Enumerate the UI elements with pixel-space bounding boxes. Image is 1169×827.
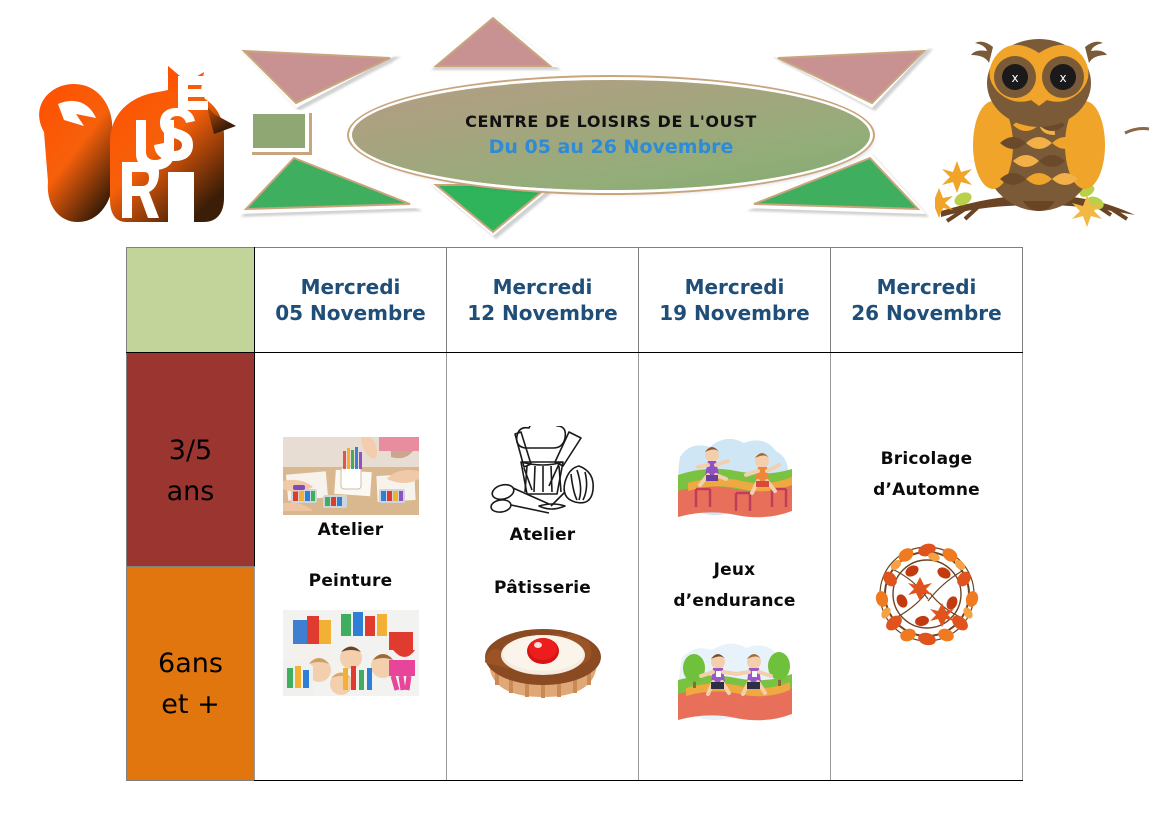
- header-day-3-date: 19 Novembre: [639, 300, 830, 326]
- header-day-4-name: Mercredi: [831, 274, 1022, 300]
- illustration-children-relay-race: [674, 638, 796, 724]
- activity-4-label: Bricolage d’Automne: [873, 446, 980, 503]
- activity-4-line1: Bricolage: [881, 449, 973, 469]
- activity-2-line1: Atelier: [510, 525, 576, 545]
- clipart-cherry-tart: [473, 615, 613, 707]
- activity-1-label: Atelier Peinture: [309, 517, 393, 594]
- activity-4-line2: d’Automne: [873, 477, 980, 503]
- header-day-1-name: Mercredi: [255, 274, 446, 300]
- photo-children-painted-hands: [283, 610, 419, 696]
- banner-decoration: CENTRE DE LOISIRS DE L'OUST Du 05 au 26 …: [232, 14, 932, 236]
- age-label-6-plus: 6ans et +: [127, 567, 255, 781]
- header-day-2: Mercredi 12 Novembre: [447, 248, 639, 353]
- age-label-3-5-line1: 3/5: [127, 431, 254, 472]
- activity-3-line2: d’endurance: [673, 588, 795, 614]
- activity-2-label: Atelier Pâtisserie: [494, 522, 591, 601]
- banner-small-rectangle: [249, 110, 309, 152]
- owl-autumn-illustration: x x: [935, 25, 1150, 237]
- activity-cell-4: Bricolage d’Automne: [831, 353, 1023, 781]
- age-label-3-5-line2: ans: [127, 472, 254, 513]
- programme-table: Mercredi 05 Novembre Mercredi 12 Novembr…: [126, 247, 1023, 781]
- activity-3-label: Jeux d’endurance: [673, 557, 795, 614]
- header-corner-cell: [127, 248, 255, 353]
- svg-text:x: x: [1059, 71, 1066, 85]
- banner-title: CENTRE DE LOISIRS DE L'OUST: [465, 112, 757, 131]
- illustration-children-hurdles-race: [674, 435, 796, 521]
- svg-text:x: x: [1011, 71, 1018, 85]
- illustration-autumn-leaf-wreath: [868, 535, 986, 653]
- header-banner: CENTRE DE LOISIRS DE L'OUST Du 05 au 26 …: [0, 0, 1169, 245]
- lineart-baking-utensils-cupcake: [481, 426, 605, 514]
- header-day-2-date: 12 Novembre: [447, 300, 638, 326]
- header-day-2-name: Mercredi: [447, 274, 638, 300]
- banner-text-block: CENTRE DE LOISIRS DE L'OUST Du 05 au 26 …: [352, 80, 870, 190]
- age-label-6-plus-line2: et +: [127, 685, 254, 726]
- table-row-age-3-5: 3/5 ans: [127, 353, 1023, 567]
- activity-cell-2: Atelier Pâtisserie: [447, 353, 639, 781]
- activity-cell-3: Jeux d’endurance: [639, 353, 831, 781]
- header-day-3-name: Mercredi: [639, 274, 830, 300]
- banner-subtitle: Du 05 au 26 Novembre: [489, 136, 734, 158]
- age-label-3-5: 3/5 ans: [127, 353, 255, 567]
- triangle-top-center: [428, 14, 558, 70]
- table-header-row: Mercredi 05 Novembre Mercredi 12 Novembr…: [127, 248, 1023, 353]
- activity-1-line1: Atelier: [318, 520, 384, 540]
- header-day-1: Mercredi 05 Novembre: [255, 248, 447, 353]
- activity-3-line1: Jeux: [714, 560, 756, 580]
- header-day-1-date: 05 Novembre: [255, 300, 446, 326]
- activity-2-line2: Pâtisserie: [494, 575, 591, 601]
- fox-ruse-logo: [18, 22, 258, 237]
- activity-1-line2: Peinture: [309, 568, 393, 594]
- age-label-6-plus-line1: 6ans: [127, 644, 254, 685]
- photo-children-painting-table: [283, 437, 419, 515]
- activity-cell-1: Atelier Peinture: [255, 353, 447, 781]
- header-day-4-date: 26 Novembre: [831, 300, 1022, 326]
- header-day-4: Mercredi 26 Novembre: [831, 248, 1023, 353]
- header-day-3: Mercredi 19 Novembre: [639, 248, 831, 353]
